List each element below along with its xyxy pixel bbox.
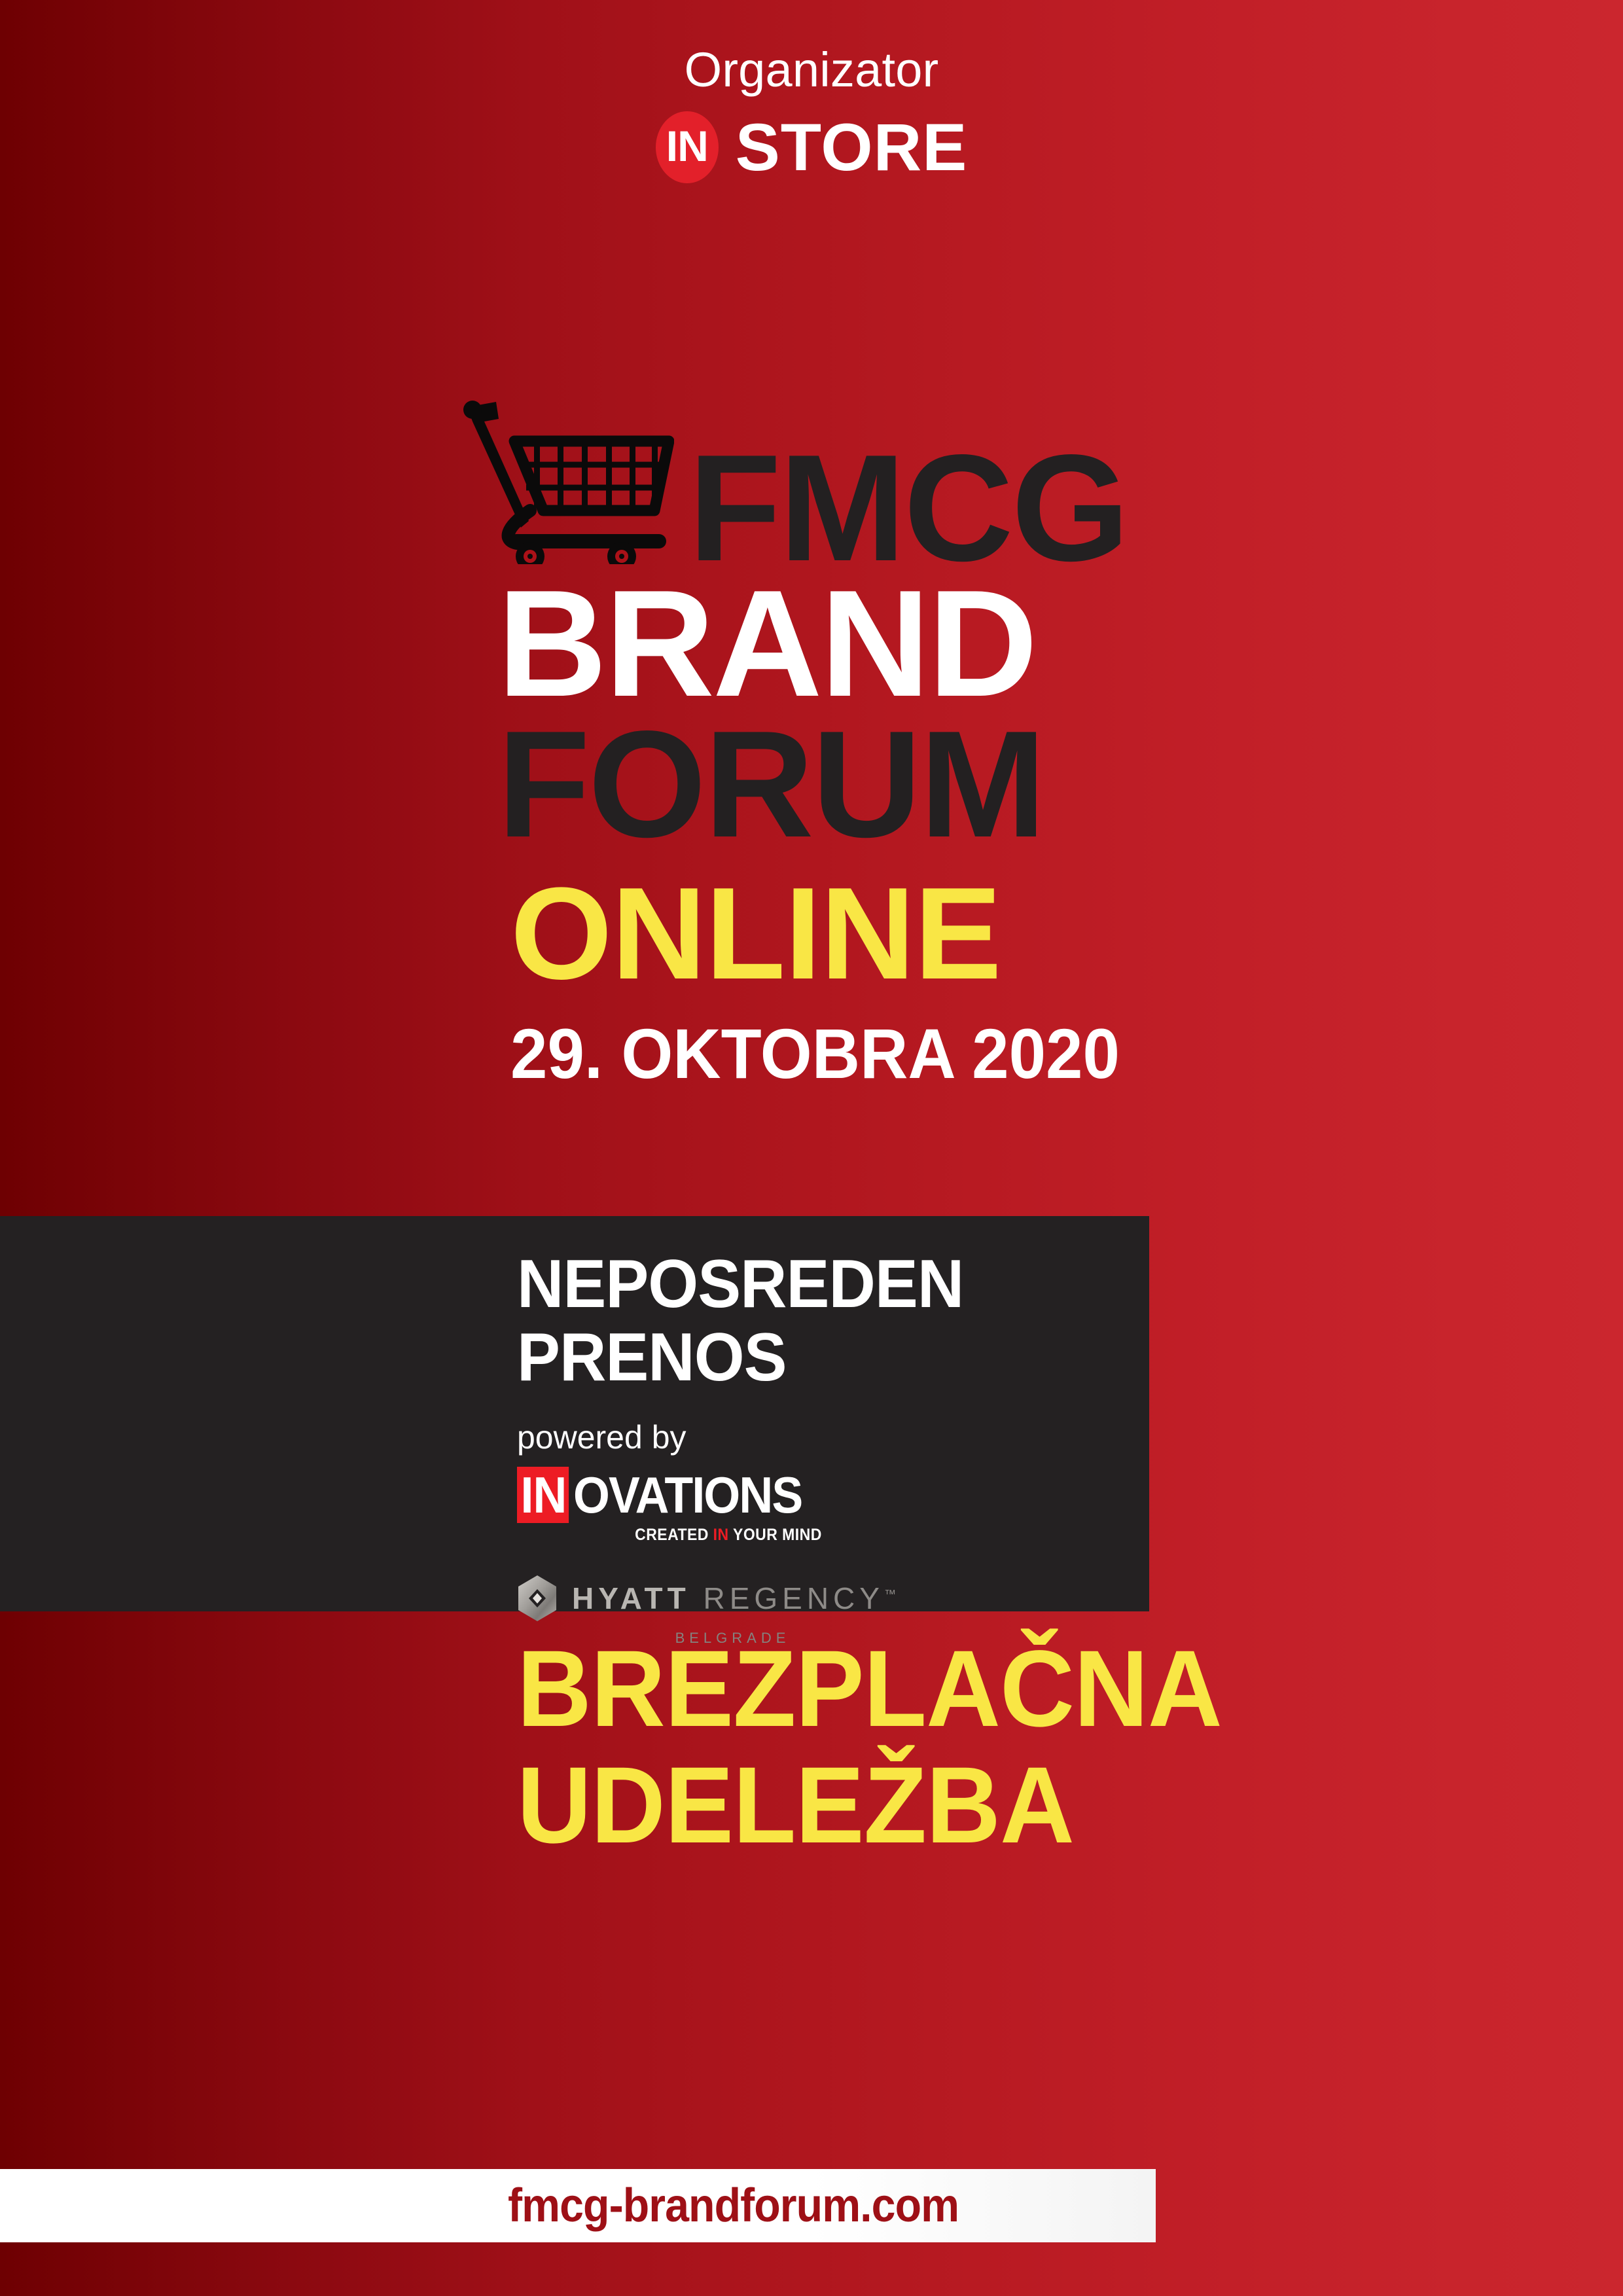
- title-line-online: ONLINE: [510, 872, 1623, 996]
- title-line-brand: BRAND: [497, 576, 1623, 713]
- organizer-label: Organizator: [0, 46, 1623, 94]
- livestream-heading-line1: NEPOSREDEN: [517, 1247, 1093, 1321]
- inovations-logo: IN OVATIONS CREATED IN YOUR MIND: [517, 1467, 822, 1545]
- shopping-cart-icon: [458, 393, 674, 564]
- hyatt-name-light: REGENCY: [690, 1581, 884, 1615]
- inovations-tagline-highlight: IN: [713, 1526, 729, 1544]
- inovations-rest: OVATIONS: [573, 1467, 802, 1523]
- event-date: 29. OKTOBRA 2020: [510, 1018, 1562, 1089]
- website-url[interactable]: fmcg-brandforum.com: [508, 2179, 959, 2233]
- hyatt-name-bold: HYATT: [572, 1581, 690, 1615]
- poster-header: Organizator IN STORE: [0, 46, 1623, 183]
- poster-root: Organizator IN STORE: [0, 0, 1623, 2296]
- inovations-tagline-before: CREATED: [635, 1526, 713, 1544]
- livestream-heading-line2: PRENOS: [517, 1321, 1093, 1394]
- hyatt-logo-row: HYATT REGENCY™: [517, 1575, 896, 1622]
- title-line-fmcg: FMCG: [688, 440, 1128, 577]
- free-attendance-line1: BREZPLAČNA: [517, 1631, 1574, 1748]
- hyatt-wordmark: HYATT REGENCY™: [572, 1583, 896, 1613]
- store-wordmark: STORE: [736, 114, 968, 181]
- inovations-tagline-after: YOUR MIND: [729, 1526, 822, 1544]
- fmcg-row: FMCG: [458, 393, 1623, 568]
- free-attendance-line2: UDELEŽBA: [517, 1748, 1574, 1864]
- free-attendance-block: BREZPLAČNA UDELEŽBA: [517, 1631, 1623, 1863]
- inovations-tagline: CREATED IN YOUR MIND: [541, 1526, 822, 1545]
- powered-by-label: powered by: [517, 1421, 1123, 1454]
- livestream-panel: NEPOSREDEN PRENOS powered by IN OVATIONS…: [0, 1216, 1149, 1611]
- in-badge-icon: IN: [656, 111, 719, 183]
- in-badge-text: IN: [666, 124, 708, 168]
- instore-logo: IN STORE: [0, 111, 1623, 183]
- hyatt-trademark: ™: [884, 1587, 896, 1600]
- hyatt-hexagon-icon: [517, 1575, 558, 1622]
- inovations-highlight: IN: [517, 1467, 569, 1523]
- event-title-block: FMCG BRAND FORUM ONLINE 29. OKTOBRA 2020: [517, 393, 1623, 1089]
- footer-url-bar: fmcg-brandforum.com: [0, 2169, 1156, 2242]
- title-line-forum: FORUM: [497, 717, 1623, 853]
- livestream-panel-content: NEPOSREDEN PRENOS powered by IN OVATIONS…: [517, 1247, 1123, 1647]
- inovations-wordmark: IN OVATIONS: [517, 1467, 822, 1523]
